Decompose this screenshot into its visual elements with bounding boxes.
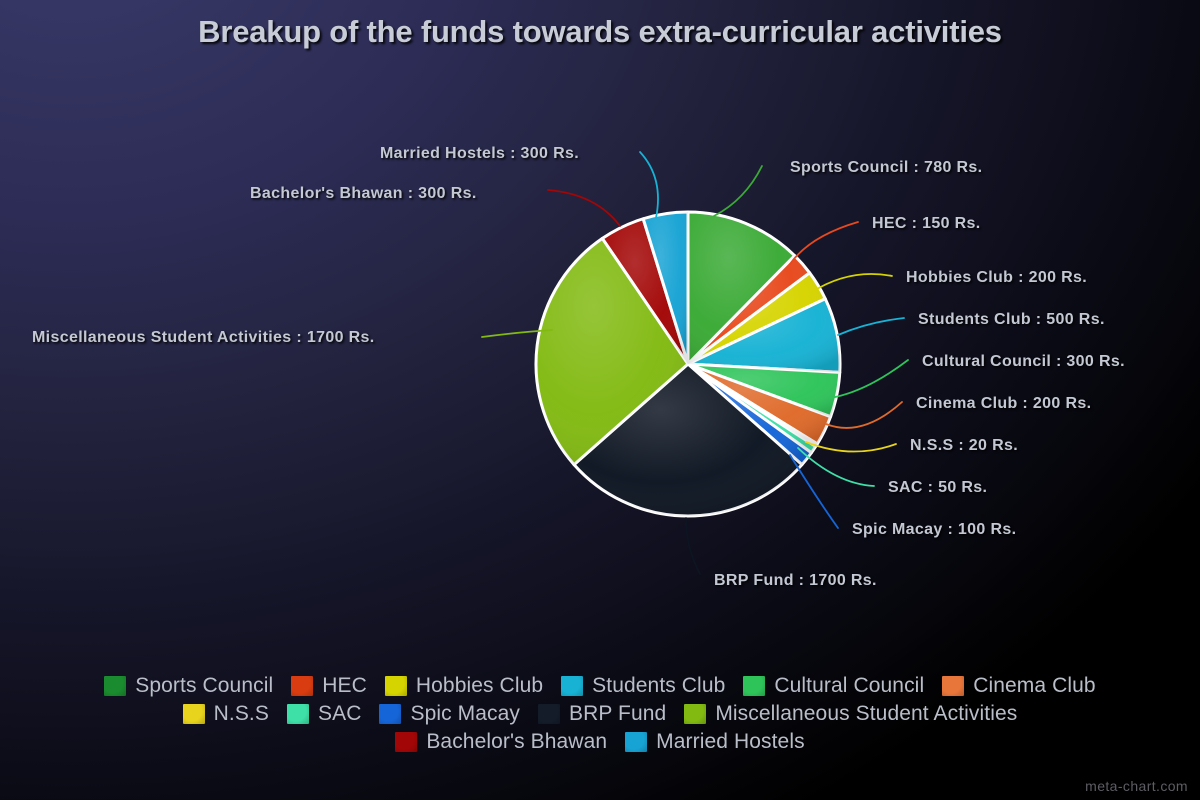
slice-label-sac: SAC : 50 Rs. xyxy=(888,479,987,497)
legend-item-cultural-council[interactable]: Cultural Council xyxy=(743,672,924,700)
slice-label-spic-macay: Spic Macay : 100 Rs. xyxy=(852,521,1016,539)
slice-label-sports-council: Sports Council : 780 Rs. xyxy=(790,159,982,177)
slice-label-misc-student: Miscellaneous Student Activities : 1700 … xyxy=(32,329,375,347)
chart-canvas: Breakup of the funds towards extra-curri… xyxy=(0,0,1200,800)
legend-label: Spic Macay xyxy=(410,702,520,726)
slice-label-nss: N.S.S : 20 Rs. xyxy=(910,437,1018,455)
legend-label: Bachelor's Bhawan xyxy=(426,730,607,754)
leader-line-hec xyxy=(790,222,858,264)
legend-swatch-icon xyxy=(684,704,706,724)
slice-label-bachelors-bhawan: Bachelor's Bhawan : 300 Rs. xyxy=(250,185,477,203)
legend-label: Miscellaneous Student Activities xyxy=(715,702,1017,726)
slice-label-students-club: Students Club : 500 Rs. xyxy=(918,311,1105,329)
legend-label: HEC xyxy=(322,674,367,698)
legend-swatch-icon xyxy=(385,676,407,696)
legend-item-brp-fund[interactable]: BRP Fund xyxy=(538,700,666,728)
legend-swatch-icon xyxy=(743,676,765,696)
legend-label: Married Hostels xyxy=(656,730,805,754)
watermark: meta-chart.com xyxy=(1085,778,1188,794)
legend-item-cinema-club[interactable]: Cinema Club xyxy=(942,672,1096,700)
leader-line-students-club xyxy=(838,318,904,335)
legend-swatch-icon xyxy=(538,704,560,724)
legend-item-married-hostels[interactable]: Married Hostels xyxy=(625,728,805,756)
legend-swatch-icon xyxy=(379,704,401,724)
legend-swatch-icon xyxy=(625,732,647,752)
leader-line-hobbies-club xyxy=(812,274,892,292)
legend-swatch-icon xyxy=(395,732,417,752)
leader-line-married-hostels xyxy=(640,152,658,218)
legend-swatch-icon xyxy=(287,704,309,724)
leader-line-bachelors-bhawan xyxy=(548,190,620,226)
slice-label-hec: HEC : 150 Rs. xyxy=(872,215,981,233)
legend-item-hobbies-club[interactable]: Hobbies Club xyxy=(385,672,543,700)
slice-label-married-hostels: Married Hostels : 300 Rs. xyxy=(380,145,579,163)
legend-swatch-icon xyxy=(561,676,583,696)
legend-swatch-icon xyxy=(291,676,313,696)
legend-item-sports-council[interactable]: Sports Council xyxy=(104,672,273,700)
legend-label: Cultural Council xyxy=(774,674,924,698)
legend-item-sac[interactable]: SAC xyxy=(287,700,361,728)
legend-label: N.S.S xyxy=(214,702,269,726)
leader-line-nss xyxy=(806,442,896,452)
slice-label-hobbies-club: Hobbies Club : 200 Rs. xyxy=(906,269,1087,287)
leader-line-spic-macay xyxy=(790,455,838,528)
leader-line-brp-fund xyxy=(686,518,700,574)
slice-label-cultural-council: Cultural Council : 300 Rs. xyxy=(922,353,1125,371)
slice-label-cinema-club: Cinema Club : 200 Rs. xyxy=(916,395,1091,413)
legend-label: Students Club xyxy=(592,674,725,698)
legend-label: Cinema Club xyxy=(973,674,1096,698)
legend-swatch-icon xyxy=(104,676,126,696)
leader-line-cinema-club xyxy=(826,402,902,428)
legend-item-spic-macay[interactable]: Spic Macay xyxy=(379,700,520,728)
legend-item-n-s-s[interactable]: N.S.S xyxy=(183,700,269,728)
legend-item-miscellaneous-student-activities[interactable]: Miscellaneous Student Activities xyxy=(684,700,1017,728)
legend-swatch-icon xyxy=(183,704,205,724)
leader-line-cultural-council xyxy=(830,360,908,398)
legend-label: BRP Fund xyxy=(569,702,666,726)
legend-item-bachelor-s-bhawan[interactable]: Bachelor's Bhawan xyxy=(395,728,607,756)
slice-label-brp-fund: BRP Fund : 1700 Rs. xyxy=(714,572,877,590)
leader-line-sports-council xyxy=(714,166,762,216)
legend-item-students-club[interactable]: Students Club xyxy=(561,672,725,700)
legend-swatch-icon xyxy=(942,676,964,696)
legend-label: Sports Council xyxy=(135,674,273,698)
legend-label: Hobbies Club xyxy=(416,674,543,698)
legend-label: SAC xyxy=(318,702,361,726)
legend: Sports CouncilHECHobbies ClubStudents Cl… xyxy=(0,672,1200,756)
legend-item-hec[interactable]: HEC xyxy=(291,672,367,700)
